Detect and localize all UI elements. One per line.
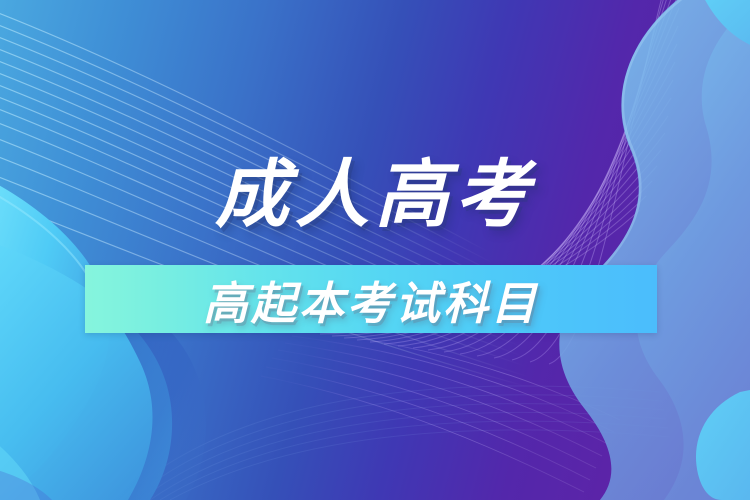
sub-title-text: 高起本考试科目 xyxy=(85,265,657,333)
main-title: 成人高考 xyxy=(0,158,750,232)
promo-banner: 成人高考 高起本考试科目 xyxy=(0,0,750,500)
sub-title-banner: 高起本考试科目 xyxy=(85,265,657,333)
banner-content: 成人高考 高起本考试科目 xyxy=(0,0,750,500)
